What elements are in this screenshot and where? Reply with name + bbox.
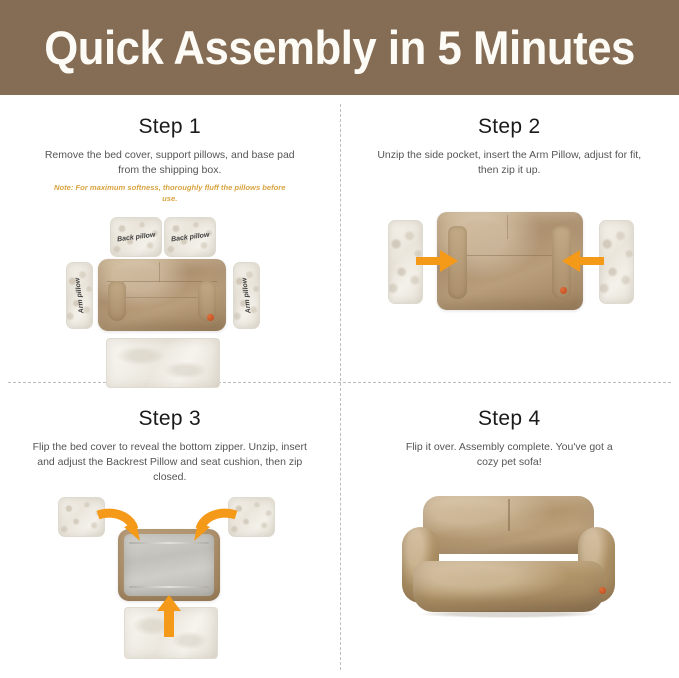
steps-grid: Step 1 Remove the bed cover, support pil… — [0, 95, 679, 678]
header-banner: Quick Assembly in 5 Minutes — [0, 0, 679, 95]
assembly-instructions-infographic: Quick Assembly in 5 Minutes Step 1 Remov… — [0, 0, 679, 678]
step-2-illustration — [340, 184, 679, 386]
arm-pillow-right: Arm pillow — [233, 262, 260, 329]
arm-pillow-left-label: Arm pillow — [74, 278, 85, 314]
assembled-pet-sofa — [400, 494, 618, 616]
step-panel-4: Step 4 Flip it over. Assembly complete. … — [340, 387, 679, 678]
step-1-description: Remove the bed cover, support pillows, a… — [34, 148, 306, 178]
brand-tag-icon — [207, 314, 214, 321]
step-3-illustration — [0, 491, 340, 678]
brand-tag-icon — [560, 287, 567, 294]
sofa-shadow — [419, 610, 598, 619]
step-1-illustration: Back pillow Back pillow Arm pillow Arm p… — [0, 210, 340, 386]
arm-pillow-right — [599, 220, 634, 304]
insert-arrow-top-right-icon — [194, 507, 238, 545]
back-pillow-left-label: Back pillow — [116, 232, 155, 244]
cover-center-seam — [507, 215, 508, 239]
step-3-description: Flip the bed cover to reveal the bottom … — [24, 440, 316, 486]
insert-arrow-left-icon — [416, 250, 458, 272]
step-4-illustration — [340, 476, 679, 678]
step-4-description: Flip it over. Assembly complete. You've … — [394, 440, 624, 470]
insert-arrow-bottom-icon — [157, 595, 181, 637]
step-panel-1: Step 1 Remove the bed cover, support pil… — [0, 95, 340, 387]
step-2-title: Step 2 — [478, 115, 541, 139]
page-title: Quick Assembly in 5 Minutes — [44, 24, 635, 71]
brand-tag-icon — [599, 587, 606, 594]
back-pillow-right: Back pillow — [164, 217, 216, 257]
back-pillow-right-label: Back pillow — [170, 232, 209, 244]
sofa-backrest-seam — [508, 499, 510, 531]
step-1-note: Note: For maximum softness, thoroughly f… — [50, 182, 290, 204]
bed-cover — [98, 259, 226, 331]
step-panel-3: Step 3 Flip the bed cover to reveal the … — [0, 387, 340, 678]
step-2-description: Unzip the side pocket, insert the Arm Pi… — [373, 148, 645, 178]
sofa-backrest — [423, 496, 593, 553]
insert-arrow-right-icon — [562, 250, 604, 272]
insert-arrow-top-left-icon — [96, 507, 140, 545]
cover-center-seam — [159, 262, 160, 282]
arm-pillow-right-label: Arm pillow — [241, 278, 252, 314]
step-3-title: Step 3 — [138, 407, 201, 431]
step-4-title: Step 4 — [478, 407, 541, 431]
zipper-bottom-icon — [129, 586, 208, 588]
sofa-seat-cushion — [413, 561, 605, 612]
back-pillow-left: Back pillow — [110, 217, 162, 257]
cover-side-pocket-left — [108, 281, 126, 321]
arm-pillow-left: Arm pillow — [66, 262, 93, 329]
step-1-title: Step 1 — [138, 115, 201, 139]
step-panel-2: Step 2 Unzip the side pocket, insert the… — [340, 95, 679, 387]
base-pad — [106, 338, 220, 388]
